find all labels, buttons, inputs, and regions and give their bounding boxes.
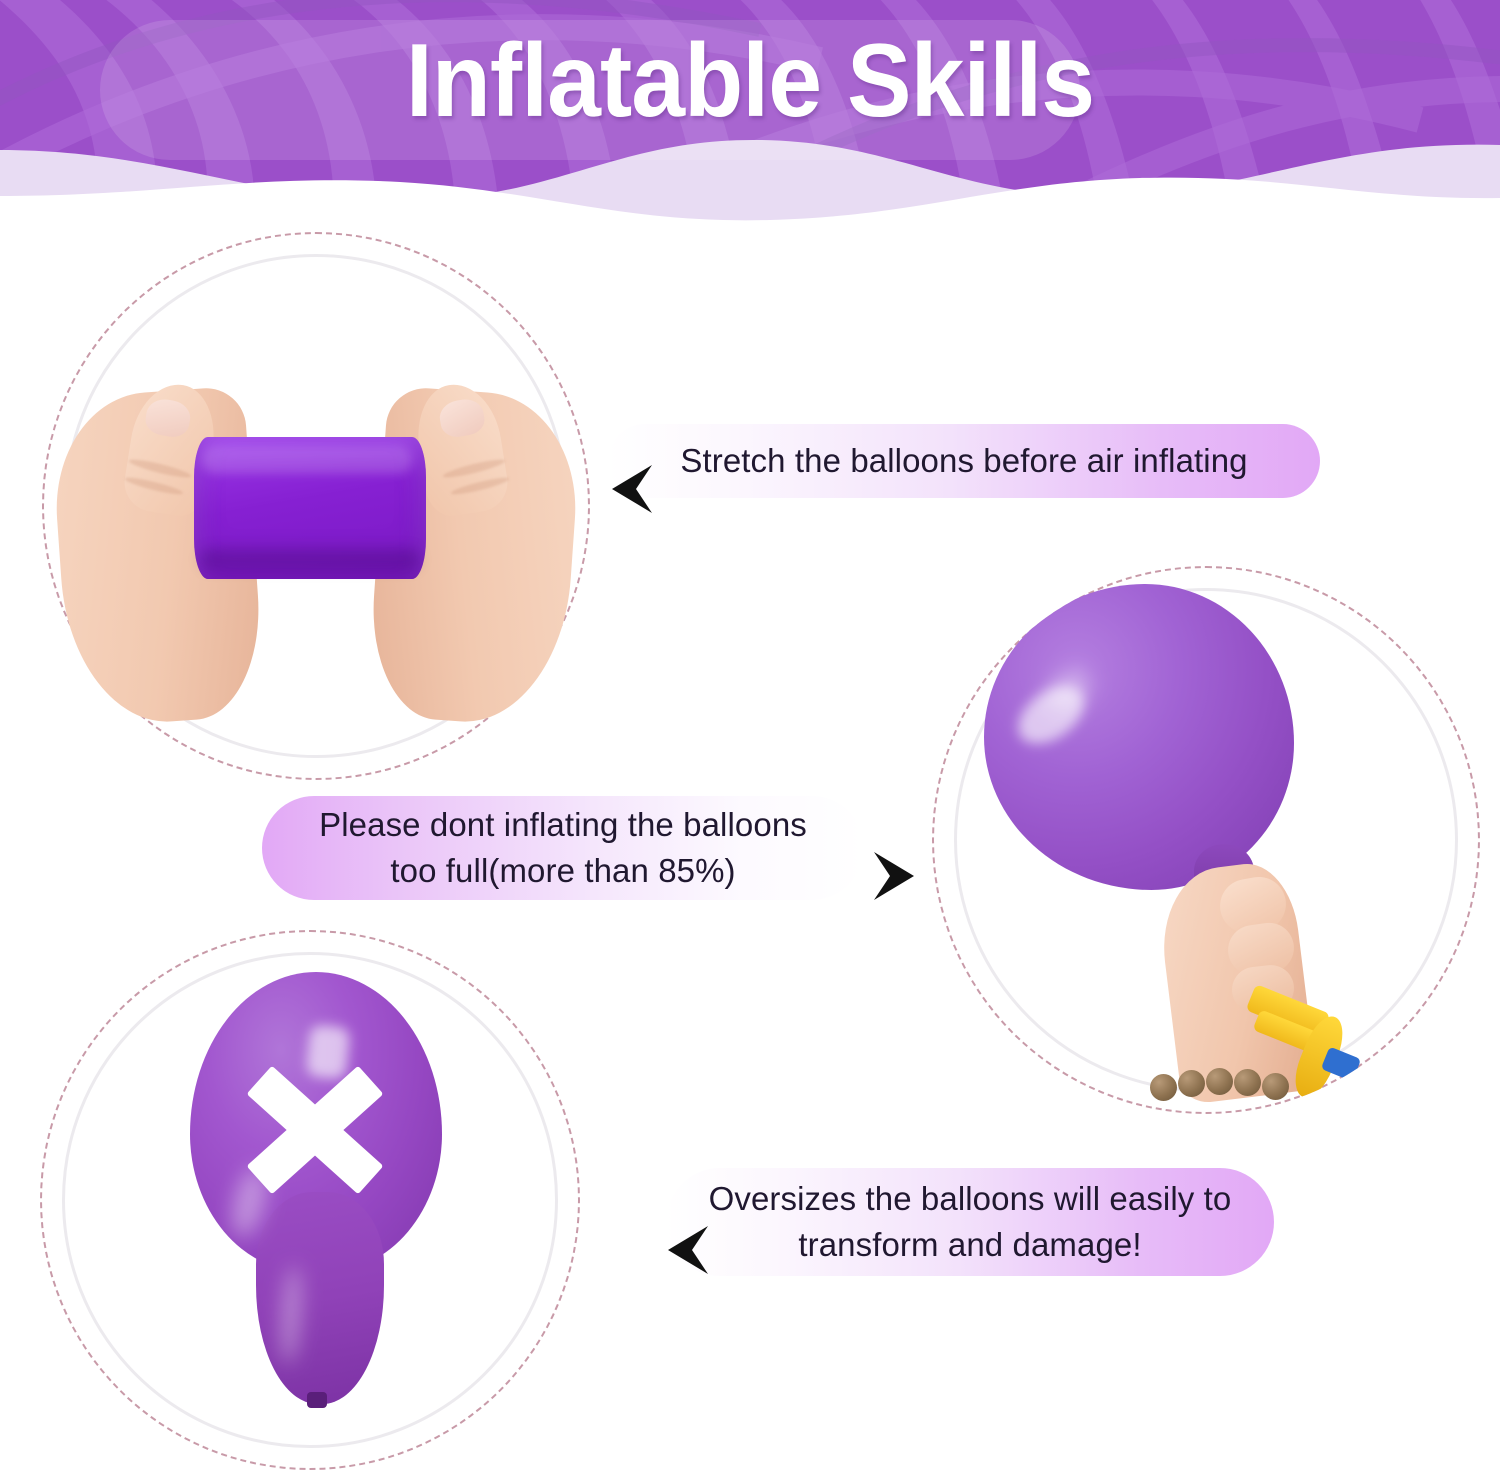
bracelet-bead [1206,1068,1233,1095]
photo-circle-inflated [932,566,1480,1114]
callout-line-2: too full(more than 85%) [390,848,735,894]
bracelet-bead [1234,1069,1261,1096]
callout-line-1: Please dont inflating the balloons [319,802,807,848]
callout-stretch[interactable]: Stretch the balloons before air inflatin… [606,424,1320,498]
photo-circle-stretch [42,232,590,780]
callout-line-2: transform and damage! [798,1222,1141,1268]
photo-circle-oversized [40,930,580,1470]
balloon-shadow [200,548,420,570]
photo-hand-holding-inflated-balloon [932,566,1480,1114]
oversized-balloon-neck [256,1192,384,1404]
photo-overinflated-balloon [40,930,580,1470]
bracelet-bead [1178,1070,1205,1097]
photo-hands-stretching-balloon [42,232,590,780]
bracelet-bead [1262,1073,1289,1100]
callout-oversize-warning[interactable]: Oversizes the balloons will easily to tr… [662,1168,1274,1276]
callout-dont-overinflate-text: Please dont inflating the balloons too f… [262,796,864,900]
balloon-knot [307,1392,327,1408]
callout-stretch-text: Stretch the balloons before air inflatin… [608,424,1320,498]
balloon-gloss-highlight [305,1024,350,1080]
bracelet-bead [1150,1074,1177,1101]
infographic-page: Inflatable Skills [0,0,1500,1473]
callout-dont-overinflate[interactable]: Please dont inflating the balloons too f… [262,796,872,900]
balloon-highlight [202,446,412,474]
callout-line-1: Oversizes the balloons will easily to [709,1176,1232,1222]
page-title: Inflatable Skills [53,16,1448,146]
callout-oversize-warning-text: Oversizes the balloons will easily to tr… [666,1168,1274,1276]
header-banner: Inflatable Skills [0,0,1500,225]
